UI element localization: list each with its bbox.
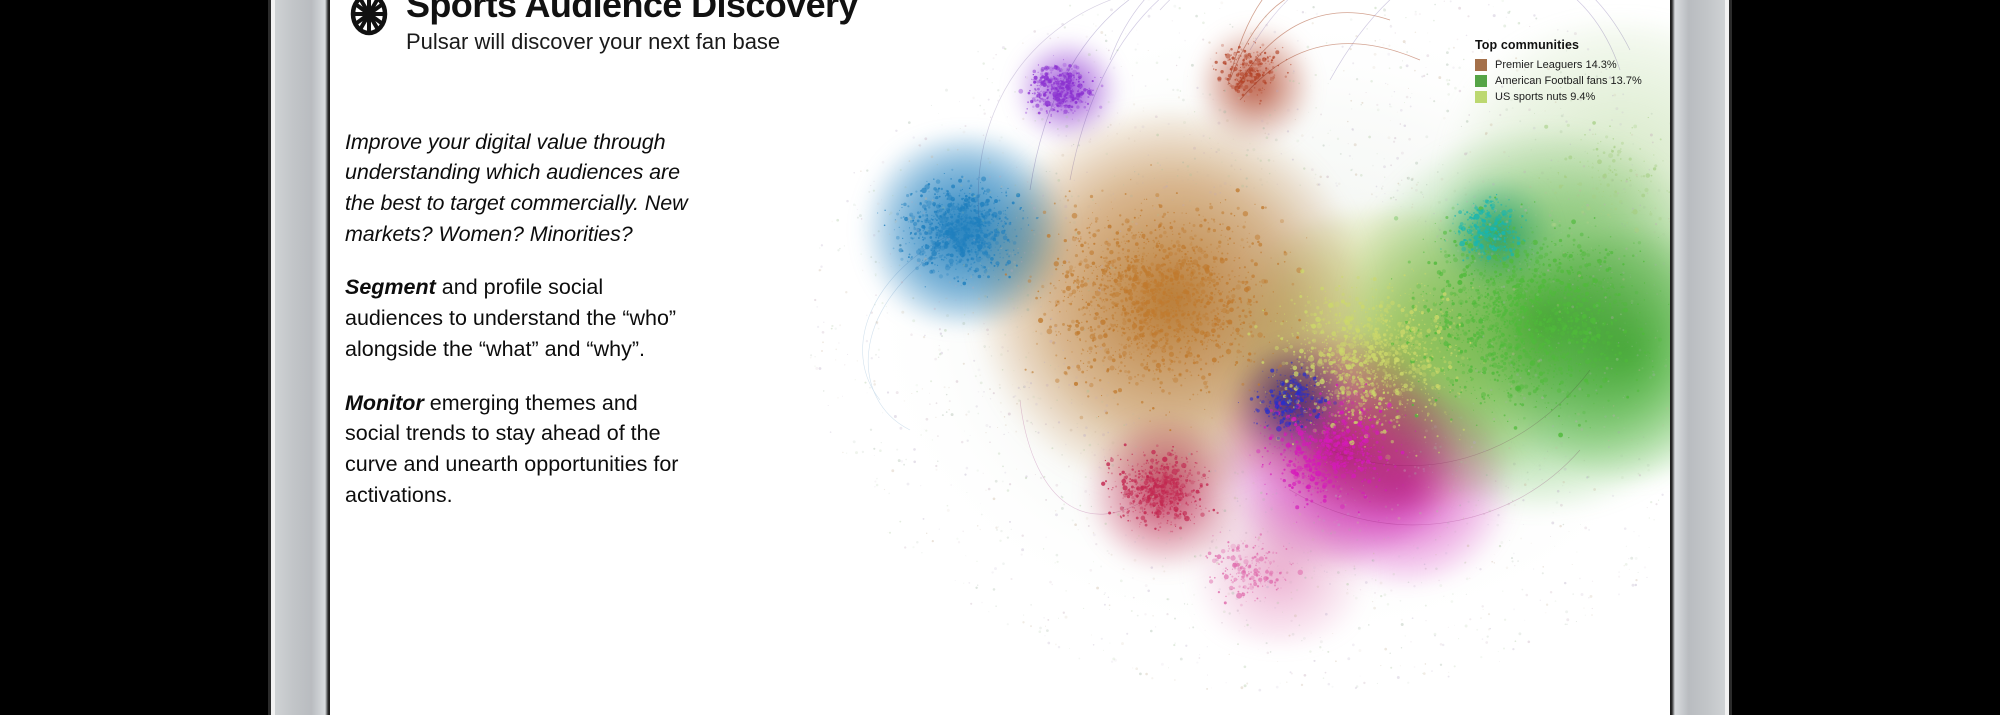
legend-item-american-football-fans: American Football fans 13.7% <box>1475 75 1642 87</box>
pulsar-asterisk-logo-icon <box>344 0 394 38</box>
legend-item-label: American Football fans 13.7% <box>1495 75 1642 87</box>
page-subtitle: Pulsar will discover your next fan base <box>406 29 858 55</box>
legend-swatch-icon <box>1475 91 1487 103</box>
paragraph-segment-lead: Segment <box>345 275 436 299</box>
community-network-graph <box>730 0 1670 715</box>
slide-canvas: Sports Audience Discovery Pulsar will di… <box>330 0 1670 715</box>
legend-item-premier-leaguers: Premier Leaguers 14.3% <box>1475 59 1642 71</box>
legend-title: Top communities <box>1475 38 1642 52</box>
screenshot-viewport: Sports Audience Discovery Pulsar will di… <box>0 0 2000 715</box>
legend-item-label: Premier Leaguers 14.3% <box>1495 59 1617 71</box>
legend-swatch-icon <box>1475 59 1487 71</box>
window-bezel-left <box>268 0 330 715</box>
paragraph-segment: Segment and profile social audiences to … <box>345 272 695 364</box>
paragraph-lede: Improve your digital value through under… <box>345 127 695 250</box>
legend-item-us-sports-nuts: US sports nuts 9.4% <box>1475 91 1642 103</box>
top-communities-legend: Top communities Premier Leaguers 14.3% A… <box>1475 38 1642 107</box>
window-bezel-right <box>1670 0 1732 715</box>
slide-body-copy: Improve your digital value through under… <box>345 105 695 534</box>
slide-header: Sports Audience Discovery Pulsar will di… <box>344 0 858 55</box>
paragraph-lede-text: Improve your digital value through under… <box>345 130 688 246</box>
legend-item-label: US sports nuts 9.4% <box>1495 91 1595 103</box>
page-title: Sports Audience Discovery <box>406 0 858 24</box>
legend-swatch-icon <box>1475 75 1487 87</box>
letterbox-right <box>1732 0 2000 715</box>
paragraph-monitor: Monitor emerging themes and social trend… <box>345 388 695 511</box>
network-nodes <box>730 0 1670 715</box>
paragraph-monitor-lead: Monitor <box>345 391 424 415</box>
letterbox-left <box>0 0 268 715</box>
